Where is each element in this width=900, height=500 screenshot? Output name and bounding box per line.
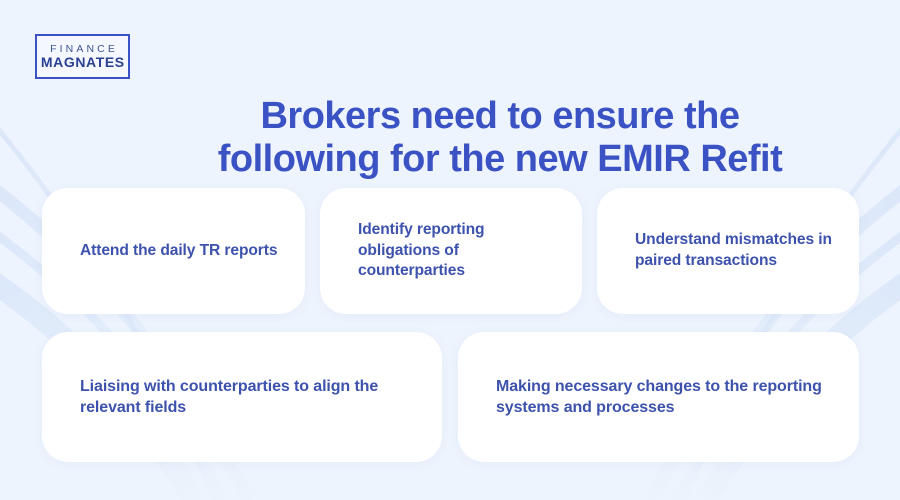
brand-logo-line-finance: FINANCE [47,44,118,55]
brand-logo[interactable]: FINANCE MAGNATES [35,34,130,79]
info-card-5[interactable]: Making necessary changes to the reportin… [458,332,859,462]
infographic-canvas: FINANCE MAGNATES Brokers need to ensure … [0,0,900,500]
page-title: Brokers need to ensure the following for… [140,95,860,180]
info-card-2[interactable]: Identify reporting obligations of counte… [320,188,582,314]
info-card-4[interactable]: Liaising with counterparties to align th… [42,332,442,462]
info-card-1-text: Attend the daily TR reports [42,241,303,262]
info-card-5-text: Making necessary changes to the reportin… [458,376,859,419]
page-title-line-2: following for the new EMIR Refit [140,138,860,181]
info-card-1[interactable]: Attend the daily TR reports [42,188,305,314]
info-card-4-text: Liaising with counterparties to align th… [42,376,442,419]
info-card-2-text: Identify reporting obligations of counte… [320,220,582,282]
info-card-3[interactable]: Understand mismatches in paired transact… [597,188,859,314]
brand-logo-line-magnates: MAGNATES [40,55,124,69]
page-title-line-1: Brokers need to ensure the [140,95,860,138]
info-card-3-text: Understand mismatches in paired transact… [597,230,859,271]
